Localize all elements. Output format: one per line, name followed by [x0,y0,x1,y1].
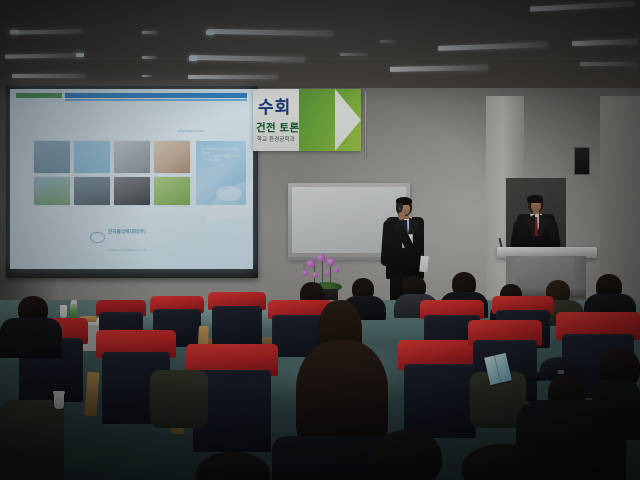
projected-slide: www.kapec.com Delivering Your Value Now … [10,89,253,269]
banner-title-medium: 건전 토론 [256,120,300,135]
banner-pole [364,92,367,160]
ceiling-light-glow [206,30,214,35]
orchid-bloom [302,270,308,276]
orchid-bloom [316,254,325,262]
slide-url-text: www.kapec.com [178,129,204,133]
banner-notch [335,89,361,151]
ceiling-light-glow [189,56,197,61]
ceiling-light-glow [10,30,19,34]
audience-shoulders [592,380,640,440]
slide-thumbnail-drill [114,141,150,173]
banner-subtitle: 학교 환경공학과 [257,135,295,143]
audience-coat [150,370,208,428]
ceiling-light-fixture [340,53,368,56]
ceiling-light-fixture [142,75,152,77]
banner-title-large: 수회 [258,93,291,118]
audience-head-foreground [462,444,546,480]
slide-thumbnail-machinery [74,177,110,205]
wall-speaker-icon [574,147,590,175]
slide-logo-subtext: KOREA POLYTECHNIC CO., LTD. [108,249,148,252]
seat-back [404,364,476,438]
ceiling-light-fixture [380,40,396,43]
ceiling-light-glow [76,53,84,57]
orchid-bloom [312,272,318,278]
ceiling-light-fixture [142,56,157,59]
slide-logo-text: 한국폴리텍대학(주) [108,229,146,234]
slide-hero-panel: Delivering Your Value Now Creating With … [196,141,246,205]
microphone-head-icon [398,203,403,208]
ceiling-light-fixture [580,62,638,66]
presenter-hand [398,212,405,220]
slide-thumbnail-keyboard [114,177,150,205]
slide-thumbnail-turbine [34,177,70,205]
slide-thumbnail-hands-globe [154,141,190,173]
slide-logo-mark-icon [90,232,105,243]
conference-hall-photo: www.kapec.com Delivering Your Value Now … [0,0,640,480]
seat-row-far [208,292,266,348]
orchid-bloom [333,267,339,273]
slide-blue-bar [65,93,247,98]
audience-torso [0,400,64,480]
podium-person-hair [527,195,543,203]
orchid-bloom [326,258,335,266]
slide-hero-watermark [216,186,242,201]
slide-green-bar [16,93,62,98]
ceiling-light-fixture [12,74,86,78]
slide-hero-line2: Creating With Your Growth [208,154,246,162]
orchid-bloom [306,260,315,268]
white-cup [60,305,67,318]
coffee-cup-lid [53,391,65,394]
coffee-cup [54,393,64,409]
slide-logo: 한국폴리텍대학(주) KOREA POLYTECHNIC CO., LTD. [90,231,174,244]
ceiling-light-fixture [188,75,278,79]
baseball-cap-logo-icon [558,370,564,374]
slide-thumbnail-sky [74,141,110,173]
slide-thumbnail-crowd [34,141,70,173]
slide-blue-underline [65,99,247,101]
audience-head-foreground [372,430,442,480]
slide-thumbnail-green-field [154,177,190,205]
ceiling-seam [0,58,640,59]
audience-shoulders [0,318,62,358]
presenter-papers [419,256,429,273]
ceiling-light-fixture [142,31,158,34]
orchid-bloom [324,270,330,276]
bottle-cap [71,300,77,304]
seat-back [212,306,262,346]
